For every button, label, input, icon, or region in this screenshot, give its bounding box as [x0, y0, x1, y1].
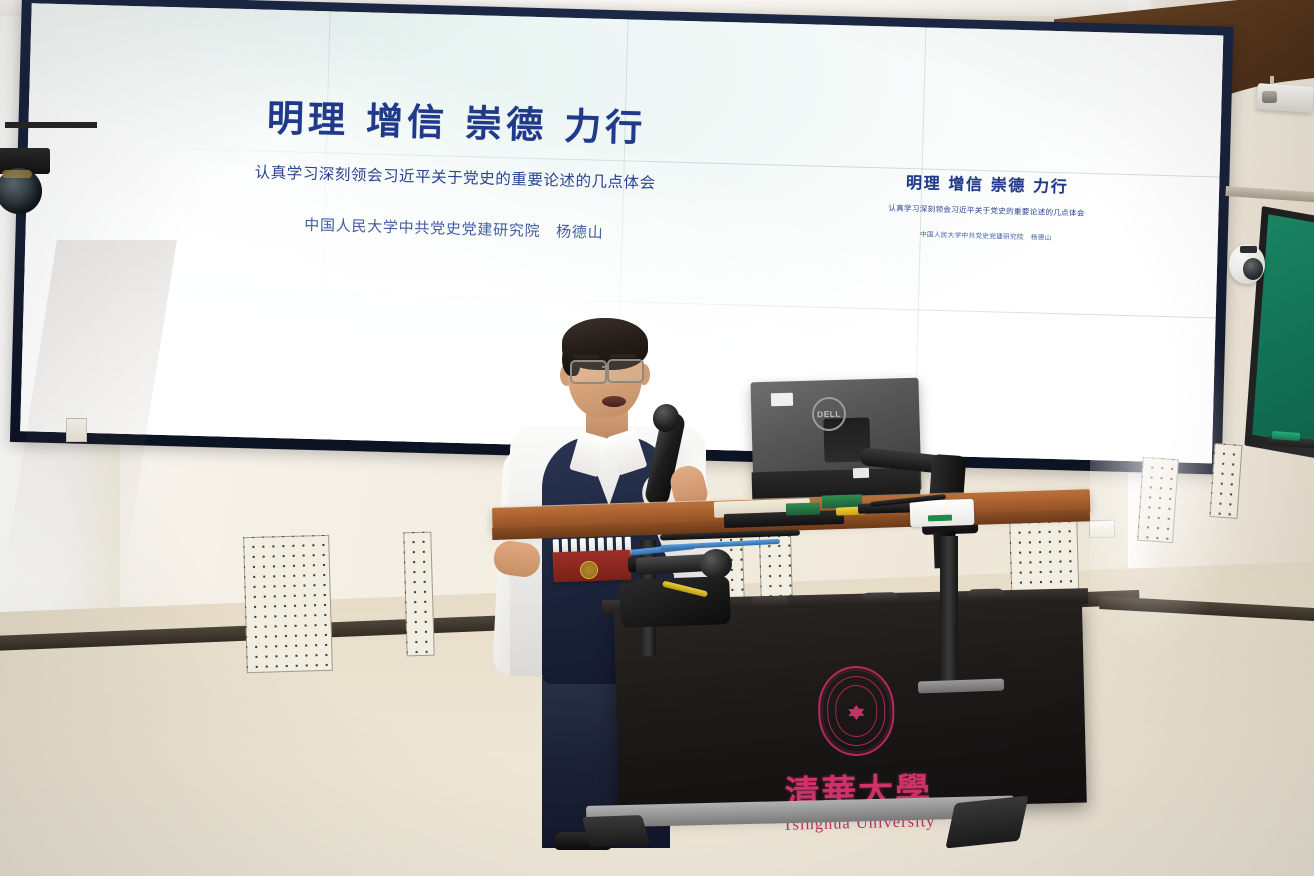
- projector-lens-icon: [1262, 91, 1277, 103]
- desk-leg: [940, 536, 958, 686]
- tsinghua-seal-icon: [817, 665, 895, 757]
- camera-ring: [2, 170, 32, 178]
- acoustic-panel: [1137, 457, 1179, 543]
- tissue-box-label: [928, 515, 952, 522]
- presenter-mouth: [602, 396, 626, 407]
- podium-foot-right: [945, 796, 1028, 849]
- star-icon: [848, 705, 864, 716]
- acoustic-panel: [1209, 443, 1242, 519]
- presenter-eyebrow: [610, 354, 636, 358]
- slide-secondary-subtitle: 认真学习深刻领会习近平关于党史的重要论述的几点体会: [836, 201, 1136, 220]
- wall-plate: [66, 418, 87, 442]
- camera-slot: [1240, 246, 1257, 253]
- monitor-sticker: [853, 468, 869, 478]
- eyeglasses-bridge: [602, 366, 609, 368]
- slide-secondary: 明理 增信 崇德 力行 认真学习深刻领会习近平关于党史的重要论述的几点体会 中国…: [836, 167, 1138, 244]
- acoustic-panel: [243, 535, 333, 673]
- slide-primary: 明理 增信 崇德 力行 认真学习深刻领会习近平关于党史的重要论述的几点体会 中国…: [174, 85, 738, 246]
- eyeglasses-icon: [607, 359, 644, 383]
- wall-plate: [1089, 520, 1115, 539]
- acoustic-panel: [403, 532, 434, 657]
- lecture-hall-photo: 明理 增信 崇德 力行 认真学习深刻领会习近平关于党史的重要论述的几点体会 中国…: [0, 0, 1314, 876]
- podium-foot-left: [582, 815, 650, 847]
- presenter-eyebrow: [573, 355, 599, 359]
- eyeglasses-icon: [570, 360, 607, 384]
- chalkboard-surface: [1252, 214, 1314, 449]
- tissue-box: [910, 499, 975, 527]
- camera-lens-icon: [1243, 258, 1263, 280]
- slide-subtitle: 认真学习深刻领会习近平关于党史的重要论述的几点体会: [175, 158, 735, 195]
- green-module: [786, 502, 820, 515]
- monitor-sticker: [771, 393, 793, 407]
- chalkboard-divider: [5, 122, 97, 128]
